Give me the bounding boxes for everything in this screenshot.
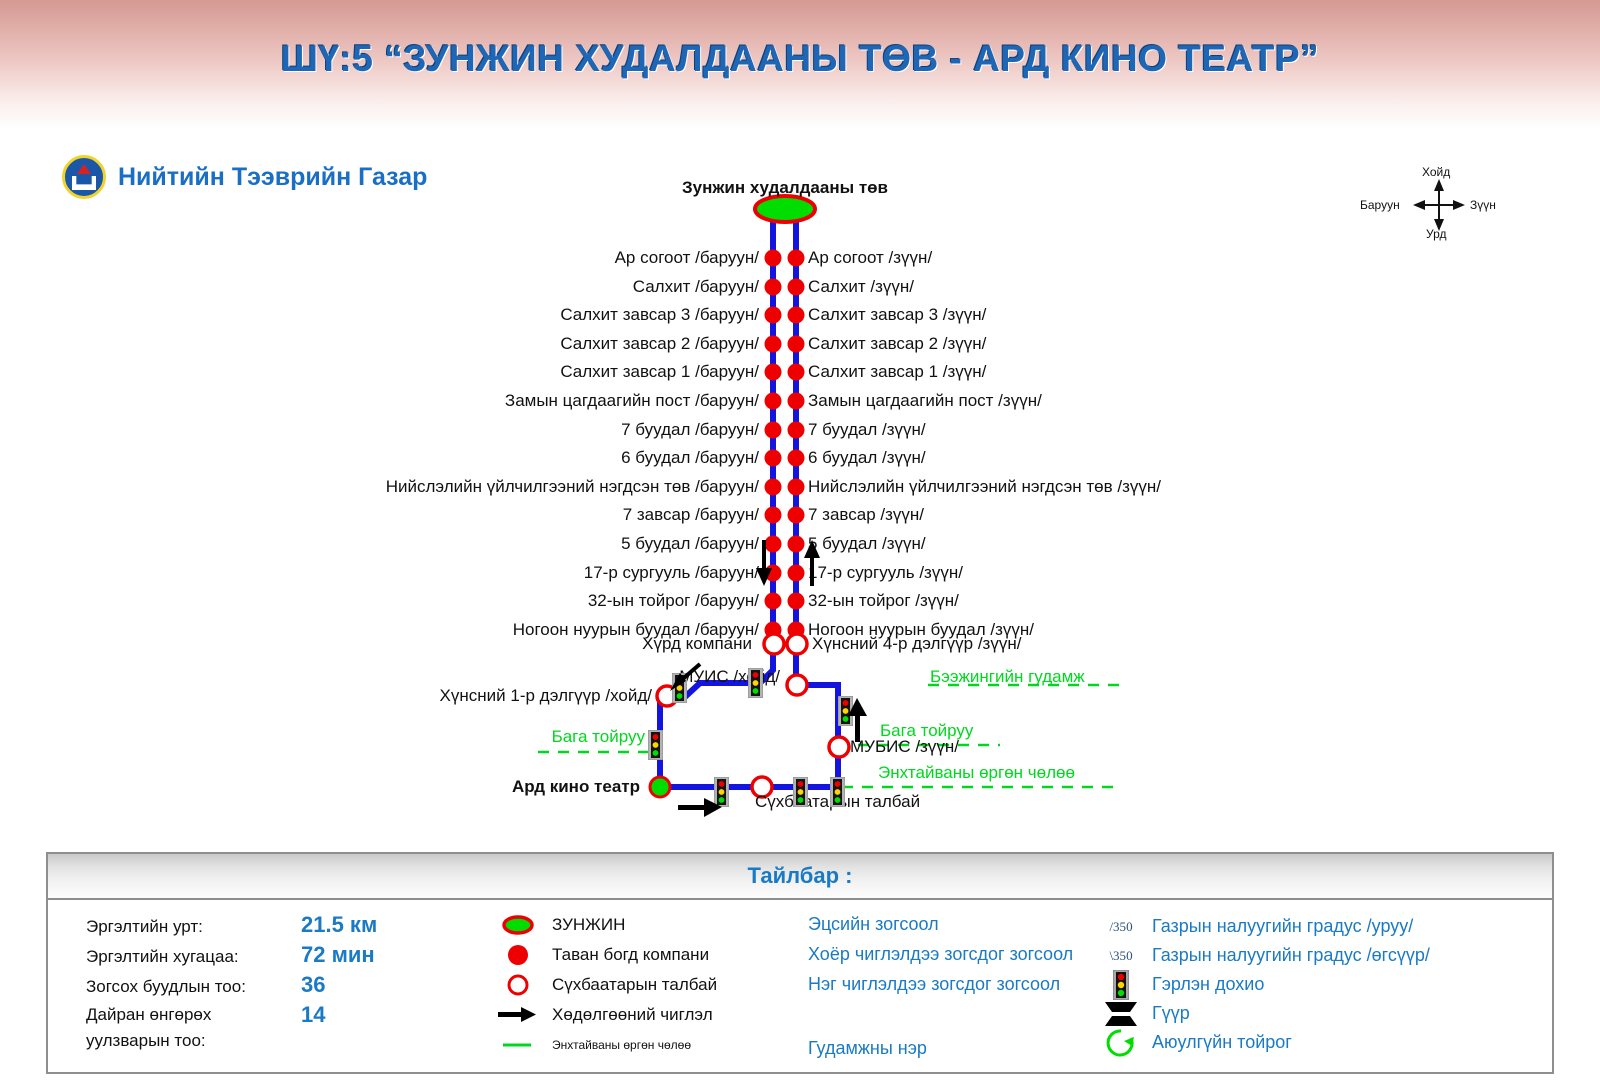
traffic-light-icon <box>793 777 808 807</box>
trunk-stop-dot-right[interactable] <box>785 276 807 298</box>
trunk-stop-dot-right[interactable] <box>785 447 807 469</box>
legend-key-label-enkhtaivan: Энхтайваны өргөн чөлөө <box>552 1038 691 1052</box>
legend-key-label-zunjin: ЗУНЖИН <box>552 915 625 935</box>
trunk-stop-label-left: Салхит завсар 1 /баруун/ <box>560 362 759 382</box>
terminus-ard-kino-icon[interactable] <box>645 772 675 802</box>
stop-hunsnii-4-label: Хүнсний 4-р дэлгүүр /зүүн/ <box>812 634 1021 654</box>
trunk-stop-label-left: 7 буудал /баруун/ <box>621 420 759 440</box>
legend-key-row: Таван богд компани <box>498 940 798 970</box>
trunk-stop-dot-right[interactable] <box>785 504 807 526</box>
legend-symbol-label-slope-down: Газрын налуугийн градус /уруу/ <box>1152 916 1413 937</box>
legend-header-label: Тайлбар : <box>747 863 852 889</box>
roundabout-icon <box>1098 1028 1144 1058</box>
stat-row: Эргэлтийн хугацаа: 72 мин <box>86 942 416 972</box>
green-line-icon <box>498 1040 538 1050</box>
legend-key-row: Хөдөлгөөний чиглэл <box>498 1000 798 1030</box>
trunk-stop-label-right: 7 буудал /зүүн/ <box>808 420 926 440</box>
legend-key-row: Энхтайваны өргөн чөлөө <box>498 1030 798 1060</box>
legend-streetname-key: Гудамжны нэр <box>808 1038 1108 1068</box>
legend-stoptypes-column: Эцсийн зогсоол Хоёр чиглэлдээ зогсдог зо… <box>808 914 1108 1068</box>
trunk-stop-label-right: Салхит завсар 1 /зүүн/ <box>808 362 986 382</box>
legend-symbol-row: \350 Газрын налуугийн градус /өгсүүр/ <box>1098 941 1528 970</box>
legend-symbol-row: Гүүр <box>1098 999 1528 1028</box>
stat-value-duration: 72 мин <box>301 942 375 968</box>
trunk-stop-dot-right[interactable] <box>785 333 807 355</box>
trunk-stop-label-right: Нийслэлийн үйлчилгээний нэгдсэн төв /зүү… <box>808 477 1161 497</box>
direction-arrow-up-icon <box>796 538 856 598</box>
stat-label-intersections-line1: Дайран өнгөрөх <box>86 1002 301 1028</box>
legend-symbol-row: /350 Газрын налуугийн градус /уруу/ <box>1098 912 1528 941</box>
slope-up-glyph: \35 <box>1109 948 1126 964</box>
stat-value-stops: 36 <box>301 972 325 998</box>
stat-label-duration: Эргэлтийн хугацаа: <box>86 947 301 967</box>
stop-muis-icon[interactable] <box>783 671 811 699</box>
legend-symbol-label-slope-up: Газрын налуугийн градус /өгсүүр/ <box>1152 945 1430 966</box>
stat-label-length: Эргэлтийн урт: <box>86 917 301 937</box>
legend-stoptype-final: Эцсийн зогсоол <box>808 914 1108 944</box>
street-baga-toiruu-right-label: Бага тойруу <box>880 721 973 741</box>
bridge-icon <box>1098 998 1144 1030</box>
trunk-stop-label-left: Салхит завсар 2 /баруун/ <box>560 334 759 354</box>
trunk-stop-dot-left[interactable] <box>762 504 784 526</box>
trunk-stop-dot-right[interactable] <box>785 361 807 383</box>
trunk-stop-label-left: 17-р сургууль /баруун/ <box>584 563 759 583</box>
terminus-zunjin-label: Зунжин худалдааны төв <box>682 178 888 198</box>
legend-symbols-column: /350 Газрын налуугийн градус /уруу/ \350… <box>1098 912 1528 1057</box>
terminus-ard-kino-label: Ард кино театр <box>512 777 640 797</box>
traffic-light-icon <box>648 730 663 760</box>
legend-symbol-row: Аюулгүйн тойрог <box>1098 1028 1528 1057</box>
trunk-stop-label-left: Салхит завсар 3 /баруун/ <box>560 305 759 325</box>
trunk-stop-dot-right[interactable] <box>785 390 807 412</box>
direction-arrow-up-loop-icon <box>846 696 872 744</box>
traffic-light-icon <box>830 777 845 807</box>
trunk-stop-label-left: 32-ын тойрог /баруун/ <box>588 591 759 611</box>
legend-key-label-tavanbogd: Таван богд компани <box>552 945 709 965</box>
trunk-stop-dot-left[interactable] <box>762 447 784 469</box>
trunk-stop-label-left: Салхит /баруун/ <box>633 277 759 297</box>
legend-panel: Тайлбар : Эргэлтийн урт: 21.5 км Эргэлти… <box>46 852 1554 1074</box>
slope-up-icon: \350 <box>1098 948 1144 964</box>
traffic-light-icon <box>1098 970 1144 1000</box>
trunk-stop-dot-right[interactable] <box>785 247 807 269</box>
trunk-stop-label-right: Замын цагдаагийн пост /зүүн/ <box>808 391 1042 411</box>
slope-up-sup: 0 <box>1126 948 1133 964</box>
red-filled-circle-icon <box>498 942 538 968</box>
direction-arrow-diagonal-icon <box>666 661 706 697</box>
stop-hurd-kompani-label: Хүрд компани <box>642 634 752 654</box>
trunk-stop-dot-left[interactable] <box>762 247 784 269</box>
legend-key-label-direction: Хөдөлгөөний чиглэл <box>552 1005 713 1025</box>
slope-down-sup: 0 <box>1126 919 1133 935</box>
trunk-stop-label-left: Замын цагдаагийн пост /баруун/ <box>505 391 759 411</box>
street-baga-toiruu-left-label: Бага тойруу <box>552 727 645 747</box>
stat-row: Зогсох буудлын тоо: 36 <box>86 972 416 1002</box>
trunk-stop-dot-left[interactable] <box>762 304 784 326</box>
trunk-stop-dot-left[interactable] <box>762 276 784 298</box>
stat-value-length: 21.5 км <box>301 912 377 938</box>
red-open-circle-icon <box>498 972 538 998</box>
trunk-stop-label-left: Нийслэлийн үйлчилгээний нэгдсэн төв /бар… <box>386 477 759 497</box>
trunk-stop-label-left: 6 буудал /баруун/ <box>621 448 759 468</box>
legend-stoptype-bidir: Хоёр чиглэлдээ зогсдог зогсоол <box>808 944 1108 974</box>
trunk-stop-dot-left[interactable] <box>762 419 784 441</box>
trunk-stop-dot-right[interactable] <box>785 419 807 441</box>
trunk-stop-dot-right[interactable] <box>785 304 807 326</box>
legend-symbol-label-roundabout: Аюулгүйн тойрог <box>1152 1032 1292 1053</box>
page-title: ШҮ:5 “ЗУНЖИН ХУДАЛДААНЫ ТӨВ - АРД КИНО Т… <box>0 38 1600 80</box>
stat-row: Эргэлтийн урт: 21.5 км <box>86 912 416 942</box>
stat-label-stops: Зогсох буудлын тоо: <box>86 977 301 997</box>
arrow-right-icon <box>498 1006 538 1024</box>
legend-header: Тайлбар : <box>48 854 1552 900</box>
trunk-stop-label-left: 7 завсар /баруун/ <box>623 505 759 525</box>
legend-symbol-label-traffic-light: Гэрлэн дохио <box>1152 974 1264 995</box>
trunk-stop-dot-right[interactable] <box>785 476 807 498</box>
trunk-stop-label-left: Ар согоот /баруун/ <box>615 248 759 268</box>
trunk-stop-label-right: Ар согоот /зүүн/ <box>808 248 932 268</box>
stat-label-intersections: Дайран өнгөрөх уулзварын тоо: <box>86 1002 301 1054</box>
trunk-stop-label-right: 6 буудал /зүүн/ <box>808 448 926 468</box>
trunk-stop-label-right: Салхит завсар 3 /зүүн/ <box>808 305 986 325</box>
trunk-stop-dot-left[interactable] <box>762 390 784 412</box>
street-enkhtaivan-label: Энхтайваны өргөн чөлөө <box>878 763 1075 783</box>
legend-stoptype-unidir: Нэг чиглэлдээ зогсдог зогсоол <box>808 974 1108 1004</box>
legend-symbol-row: Гэрлэн дохио <box>1098 970 1528 999</box>
direction-arrow-right-loop-icon <box>676 795 724 821</box>
legend-stats-column: Эргэлтийн урт: 21.5 км Эргэлтийн хугацаа… <box>86 912 416 1058</box>
stop-hunsnii-4-icon[interactable] <box>783 630 811 658</box>
trunk-stop-label-right: 7 завсар /зүүн/ <box>808 505 924 525</box>
stat-label-intersections-line2: уулзварын тоо: <box>86 1028 301 1054</box>
legend-key-label-suhbaatar: Сүхбаатарын талбай <box>552 975 717 995</box>
trunk-stop-dot-left[interactable] <box>762 476 784 498</box>
street-beijing-label: Бээжингийн гудамж <box>930 667 1085 687</box>
green-ellipse-icon <box>498 914 538 936</box>
trunk-stop-label-left: 5 буудал /баруун/ <box>621 534 759 554</box>
trunk-stop-dot-left[interactable] <box>762 361 784 383</box>
traffic-light-icon <box>748 668 763 698</box>
slope-down-icon: /350 <box>1098 919 1144 935</box>
trunk-stop-label-right: Салхит завсар 2 /зүүн/ <box>808 334 986 354</box>
legend-key-row: Сүхбаатарын талбай <box>498 970 798 1000</box>
route-map: Зунжин худалдааны төв Ар согоот /баруун/… <box>0 140 1600 840</box>
trunk-stop-label-right: Салхит /зүүн/ <box>808 277 914 297</box>
legend-keys-column: ЗУНЖИН Таван богд компани Сүхбаатарын та… <box>498 910 798 1060</box>
trunk-stop-dot-left[interactable] <box>762 333 784 355</box>
legend-key-row: ЗУНЖИН <box>498 910 798 940</box>
stop-hunsnii-1-label: Хүнсний 1-р дэлгүүр /хойд/ <box>440 686 652 706</box>
stat-row: Дайран өнгөрөх уулзварын тоо: 14 <box>86 1002 416 1058</box>
stat-value-intersections: 14 <box>301 1002 325 1028</box>
legend-symbol-label-bridge: Гүүр <box>1152 1003 1190 1024</box>
slope-down-glyph: /35 <box>1109 919 1126 935</box>
